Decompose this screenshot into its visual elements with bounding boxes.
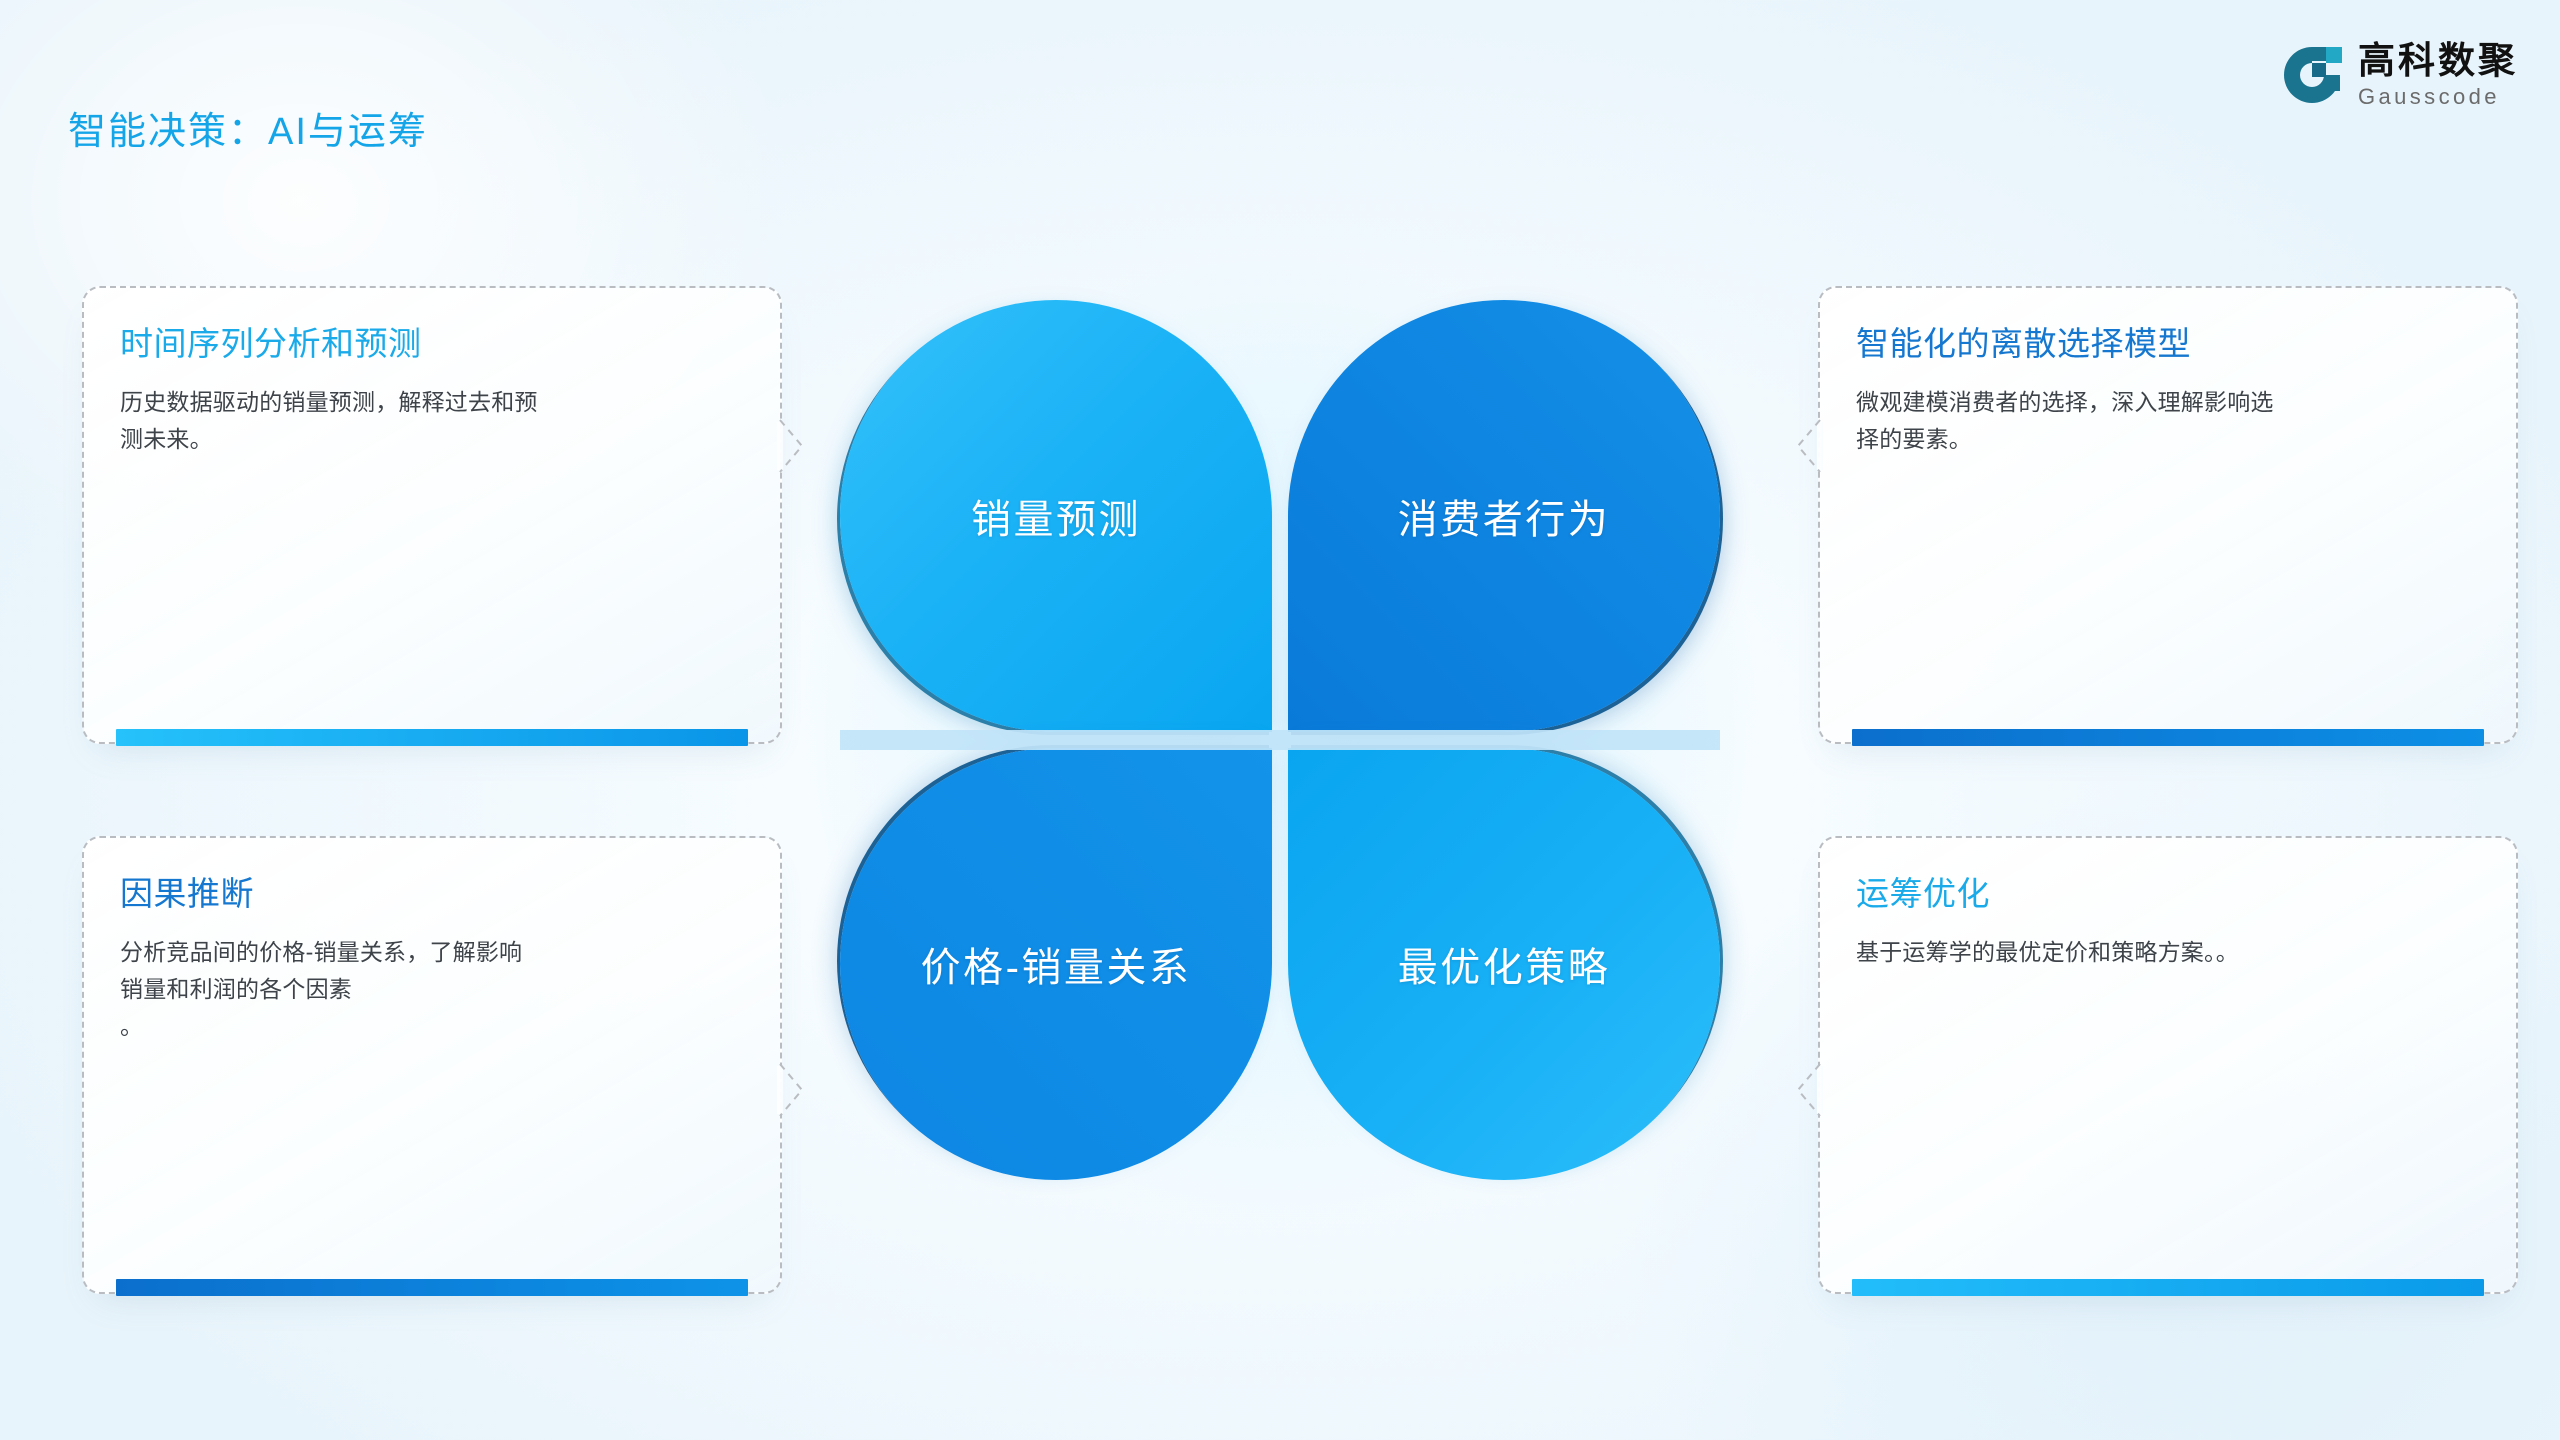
card-description: 微观建模消费者的选择，深入理解影响选 择的要素。 — [1856, 384, 2480, 459]
logo-wordmark: 高科数聚 Gausscode — [2358, 42, 2518, 108]
card-accent-bar — [116, 1279, 748, 1296]
page-title: 智能决策：AI与运筹 — [68, 100, 428, 155]
petal-optimization-strategy[interactable]: 最优化策略 — [1288, 748, 1720, 1180]
card-description: 基于运筹学的最优定价和策略方案。。 — [1856, 934, 2480, 971]
card-content: 智能化的离散选择模型 微观建模消费者的选择，深入理解影响选 择的要素。 — [1856, 324, 2480, 458]
card-description: 历史数据驱动的销量预测，解释过去和预 测未来。 — [120, 384, 744, 459]
logo-english-name: Gausscode — [2358, 86, 2500, 108]
petal-price-sales-relation[interactable]: 价格-销量关系 — [840, 748, 1272, 1180]
card-pointer-right-icon — [780, 420, 806, 472]
card-content: 运筹优化 基于运筹学的最优定价和策略方案。。 — [1856, 874, 2480, 971]
gausscode-logo-mark-icon — [2280, 43, 2344, 107]
card-pointer-right-icon — [780, 1064, 806, 1116]
card-title: 智能化的离散选择模型 — [1856, 324, 2480, 364]
card-time-series-forecasting[interactable]: 时间序列分析和预测 历史数据驱动的销量预测，解释过去和预 测未来。 — [82, 286, 782, 744]
card-operations-optimization[interactable]: 运筹优化 基于运筹学的最优定价和策略方案。。 — [1818, 836, 2518, 1294]
card-causal-inference[interactable]: 因果推断 分析竞品间的价格-销量关系，了解影响 销量和利润的各个因素 。 — [82, 836, 782, 1294]
card-accent-bar — [116, 729, 748, 746]
logo-chinese-name: 高科数聚 — [2358, 42, 2518, 79]
brand-logo: 高科数聚 Gausscode — [2280, 42, 2518, 108]
petal-label: 消费者行为 — [1398, 487, 1611, 545]
card-discrete-choice-model[interactable]: 智能化的离散选择模型 微观建模消费者的选择，深入理解影响选 择的要素。 — [1818, 286, 2518, 744]
petal-label: 销量预测 — [971, 487, 1141, 545]
card-accent-bar — [1852, 729, 2484, 746]
four-petal-diagram: 销量预测 消费者行为 价格-销量关系 最优化策略 — [840, 300, 1720, 1180]
card-content: 时间序列分析和预测 历史数据驱动的销量预测，解释过去和预 测未来。 — [120, 324, 744, 458]
petal-label: 最优化策略 — [1398, 935, 1611, 993]
card-title: 因果推断 — [120, 874, 744, 914]
card-pointer-left-icon — [1794, 420, 1820, 472]
card-pointer-left-icon — [1794, 1064, 1820, 1116]
petal-seam-horizontal — [840, 730, 1720, 750]
card-title: 运筹优化 — [1856, 874, 2480, 914]
petal-label: 价格-销量关系 — [921, 935, 1192, 993]
petal-sales-forecast[interactable]: 销量预测 — [840, 300, 1272, 732]
petal-consumer-behavior[interactable]: 消费者行为 — [1288, 300, 1720, 732]
petal-seam-vertical — [1270, 300, 1290, 1180]
card-description: 分析竞品间的价格-销量关系，了解影响 销量和利润的各个因素 。 — [120, 934, 744, 1046]
card-accent-bar — [1852, 1279, 2484, 1296]
card-title: 时间序列分析和预测 — [120, 324, 744, 364]
card-content: 因果推断 分析竞品间的价格-销量关系，了解影响 销量和利润的各个因素 。 — [120, 874, 744, 1045]
